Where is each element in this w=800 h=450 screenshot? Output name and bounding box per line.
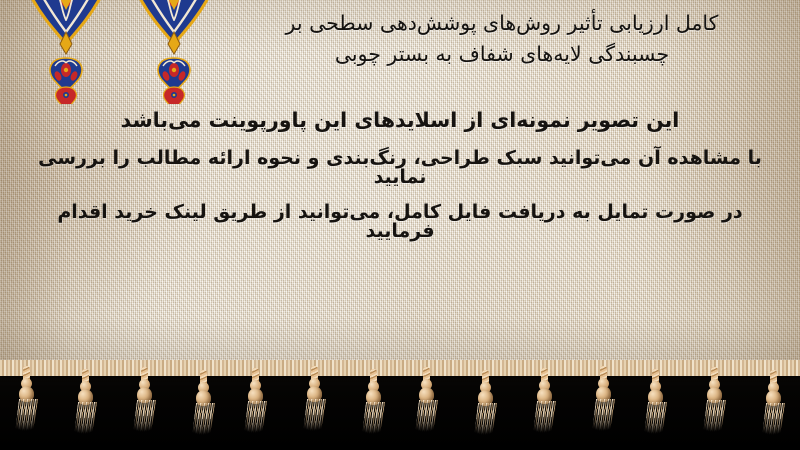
tassel-skirt: [15, 399, 38, 431]
tassel-skirt: [74, 402, 97, 434]
slide-title: کامل ارزیابی تأثیر روش‌های پوشش‌دهی سطحی…: [232, 8, 772, 70]
slide-body-line-3: در صورت تمایل به دریافت فایل کامل، می‌تو…: [22, 203, 778, 241]
tassel: [75, 369, 95, 435]
slide-title-line-2: چسبندگی لایه‌های شفاف به بستر چوبی: [232, 39, 772, 70]
persian-medallion-pendant-icon: [14, 0, 118, 104]
slide-title-line-1: کامل ارزیابی تأثیر روش‌های پوشش‌دهی سطحی…: [232, 8, 772, 39]
tassel-skirt: [592, 399, 615, 431]
tassel-skirt: [362, 402, 385, 434]
tassel-skirt: [703, 400, 726, 432]
tassel: [475, 370, 495, 436]
tassel: [245, 368, 265, 434]
tassel: [134, 367, 154, 433]
slide-canvas: کامل ارزیابی تأثیر روش‌های پوشش‌دهی سطحی…: [0, 0, 800, 450]
tassel-skirt: [133, 400, 156, 432]
tassel: [593, 366, 613, 432]
tassel: [416, 367, 436, 433]
tassel-skirt: [533, 401, 556, 433]
tassel: [645, 369, 665, 435]
tassel-skirt: [244, 401, 267, 433]
tassel: [704, 367, 724, 433]
tassel: [763, 370, 783, 436]
tassel-skirt: [415, 400, 438, 432]
carpet-fringe: [0, 360, 800, 450]
tassel-skirt: [192, 403, 215, 435]
slide-body: این تصویر نمونه‌ای از اسلایدهای این پاور…: [22, 110, 778, 241]
tassel: [16, 366, 36, 432]
tassel-skirt: [762, 403, 785, 435]
ornament-group: [0, 0, 240, 112]
tassel: [363, 369, 383, 435]
carpet-selvedge-edge: [0, 360, 800, 376]
tassel-skirt: [474, 403, 497, 435]
tassel-skirt: [303, 399, 326, 431]
tassel: [193, 370, 213, 436]
tassel: [534, 368, 554, 434]
slide-body-line-2: با مشاهده آن می‌توانید سبک طراحی، رنگ‌بن…: [22, 149, 778, 187]
persian-medallion-pendant-icon: [122, 0, 226, 104]
slide-body-line-1: این تصویر نمونه‌ای از اسلایدهای این پاور…: [22, 110, 778, 131]
tassel: [304, 366, 324, 432]
tassel-skirt: [644, 402, 667, 434]
